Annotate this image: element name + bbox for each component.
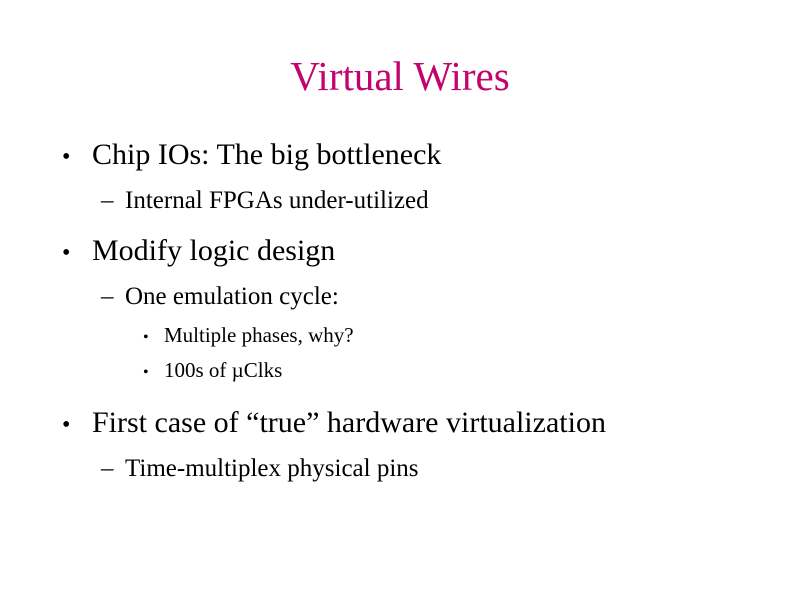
bullet-text: 100s of µClks [164, 354, 282, 387]
bullet-text: Internal FPGAs under-utilized [125, 182, 429, 220]
presentation-slide: Virtual Wires • Chip IOs: The big bottle… [0, 0, 800, 600]
bullet-text: Modify logic design [92, 229, 335, 273]
slide-body: • Chip IOs: The big bottleneck – Interna… [0, 133, 800, 488]
bullet-text: Time-multiplex physical pins [125, 450, 419, 488]
bullet-marker-dash-icon: – [101, 450, 125, 488]
bullet-text: Chip IOs: The big bottleneck [92, 133, 441, 177]
bullet-marker-dot-icon: • [62, 135, 92, 179]
spacer [0, 220, 800, 229]
bullet-item-level2: – One emulation cycle: [0, 278, 800, 316]
bullet-marker-dot-icon: • [143, 321, 164, 354]
bullet-marker-dot-icon: • [62, 231, 92, 275]
bullet-item-level1: • Modify logic design [0, 229, 800, 275]
bullet-marker-dot-icon: • [62, 403, 92, 447]
bullet-marker-dash-icon: – [101, 182, 125, 220]
bullet-marker-dash-icon: – [101, 278, 125, 316]
bullet-item-level1: • Chip IOs: The big bottleneck [0, 133, 800, 179]
slide-title: Virtual Wires [0, 52, 800, 100]
bullet-text: One emulation cycle: [125, 278, 339, 316]
bullet-text: First case of “true” hardware virtualiza… [92, 401, 606, 445]
bullet-item-level3: • Multiple phases, why? [0, 319, 800, 354]
bullet-marker-dot-icon: • [143, 356, 164, 389]
bullet-text: Multiple phases, why? [164, 319, 354, 352]
bullet-item-level1: • First case of “true” hardware virtuali… [0, 401, 800, 447]
bullet-item-level2: – Internal FPGAs under-utilized [0, 182, 800, 220]
spacer [0, 389, 800, 401]
bullet-item-level2: – Time-multiplex physical pins [0, 450, 800, 488]
bullet-item-level3: • 100s of µClks [0, 354, 800, 389]
